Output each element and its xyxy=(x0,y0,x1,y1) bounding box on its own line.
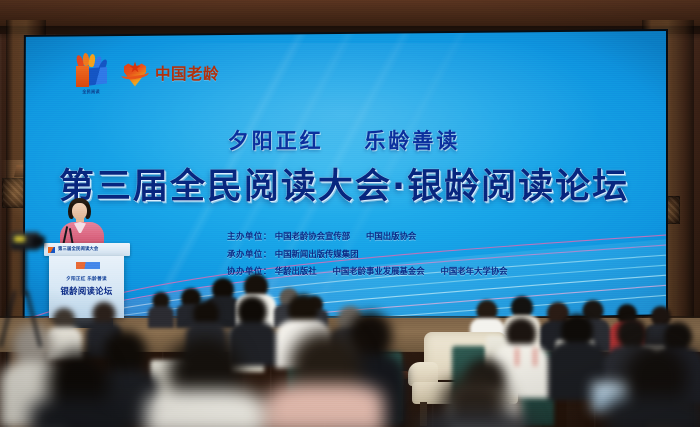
reading-logo-subtitle: 全民阅读 xyxy=(74,89,108,95)
credit-label-host: 主办单位： xyxy=(227,231,272,241)
screen-headline: 第三届全民阅读大会·银龄阅读论坛 xyxy=(22,158,666,209)
screen-credits-block: 主办单位： 中国老龄协会宣传部 中国出版协会 承办单位： 中国新闻出版传媒集团 … xyxy=(227,228,507,281)
china-aging-heart-star-icon xyxy=(120,58,150,89)
credit-organizer-1: 中国新闻出版传媒集团 xyxy=(275,249,359,259)
credit-coorganizer-2: 中国老龄事业发展基金会 xyxy=(333,266,425,276)
china-aging-logo: 中国老龄 xyxy=(120,58,219,89)
credit-host-1: 中国老龄协会宣传部 xyxy=(275,231,350,241)
credit-line-organizer: 承办单位： 中国新闻出版传媒集团 xyxy=(227,246,507,264)
lectern-panel-line2: 银龄阅读论坛 xyxy=(53,285,120,297)
lectern-panel-logo-icon xyxy=(76,262,100,269)
screen-logo-row: 全民阅读 中国老龄 xyxy=(74,53,219,93)
credit-line-host: 主办单位： 中国老龄协会宣传部 中国出版协会 xyxy=(227,228,507,246)
lectern-strip-text: 第三届全民阅读大会 xyxy=(58,246,127,252)
national-reading-book-flame-logo: 全民阅读 xyxy=(74,53,108,93)
credit-line-coorganizer: 协办单位： 华龄出版社 中国老龄事业发展基金会 中国老年大学协会 xyxy=(227,263,507,281)
video-camera-on-tripod xyxy=(2,232,46,352)
screen-kicker: 夕阳正红 乐龄善读 xyxy=(22,125,666,155)
credit-host-2: 中国出版协会 xyxy=(366,231,416,241)
conference-stage-photo: 全民阅读 中国老龄 夕阳正红 乐龄善读 第三届全民阅读大会·银龄阅读论坛 主办单… xyxy=(0,0,700,427)
kicker-left: 夕阳正红 xyxy=(228,129,324,153)
credit-label-organizer: 承办单位： xyxy=(227,249,272,259)
kicker-right: 乐龄善读 xyxy=(364,129,460,153)
camera-lens-icon xyxy=(32,236,45,247)
lectern-strip-logo-icon xyxy=(48,247,55,253)
lectern-panel-line1: 夕阳正红 乐龄善读 xyxy=(55,276,118,282)
lectern-top-strip: 第三届全民阅读大会 xyxy=(44,243,130,256)
china-aging-logo-text: 中国老龄 xyxy=(155,62,219,84)
credit-coorganizer-1: 华龄出版社 xyxy=(275,266,317,276)
credit-coorganizer-3: 中国老年大学协会 xyxy=(440,266,507,276)
